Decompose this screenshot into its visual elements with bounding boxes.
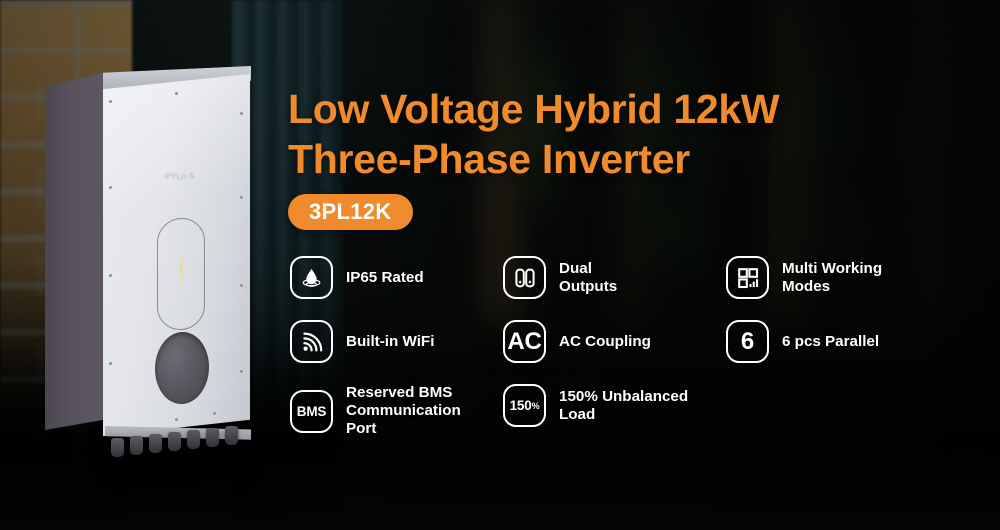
model-badge: 3PL12K: [288, 194, 413, 230]
feature-item-multi-working-modes: Multi Working Modes: [726, 256, 882, 299]
feature-label-multi-working-modes: Multi Working Modes: [782, 260, 882, 296]
feature-label-parallel: 6 pcs Parallel: [782, 333, 879, 351]
bms-icon: BMS: [290, 390, 333, 433]
feature-label-unbalanced-load: 150% Unbalanced Load: [559, 388, 688, 424]
ac-icon: AC: [503, 320, 546, 363]
banner-content: Low Voltage Hybrid 12kW Three-Phase Inve…: [288, 0, 988, 530]
product-banner: PYLn S Low V: [0, 0, 1000, 530]
feature-item-unbalanced-load: 150% 150% Unbalanced Load: [503, 384, 688, 427]
feature-label-dual-outputs: Dual Outputs: [559, 260, 617, 296]
feature-item-parallel: 6 6 pcs Parallel: [726, 320, 879, 363]
percent-150-icon: 150%: [503, 384, 546, 427]
inverter-side-panel: [45, 72, 107, 430]
hero-title-line2: Three-Phase Inverter: [288, 134, 690, 184]
number-six-icon: 6: [726, 320, 769, 363]
inverter-product-image: PYLn S: [45, 60, 245, 450]
dual-breaker-icon: [503, 256, 546, 299]
hero-title-line1: Low Voltage Hybrid 12kW: [288, 84, 779, 134]
grid-chart-icon: [726, 256, 769, 299]
feature-item-ac-coupling: AC AC Coupling: [503, 320, 651, 363]
inverter-cable-glands: [103, 430, 255, 464]
feature-label-bms: Reserved BMS Communication Port: [346, 384, 461, 438]
feature-label-ac-coupling: AC Coupling: [559, 333, 651, 351]
feature-item-wifi: Built-in WiFi: [290, 320, 434, 363]
feature-item-bms: BMS Reserved BMS Communication Port: [290, 384, 461, 438]
feature-item-ip65: IP65 Rated: [290, 256, 424, 299]
model-badge-label: 3PL12K: [309, 199, 392, 225]
inverter-screws: [103, 74, 250, 436]
feature-item-dual-outputs: Dual Outputs: [503, 256, 617, 299]
feature-label-ip65: IP65 Rated: [346, 269, 424, 287]
feature-label-wifi: Built-in WiFi: [346, 333, 434, 351]
water-drop-icon: [290, 256, 333, 299]
wifi-icon: [290, 320, 333, 363]
